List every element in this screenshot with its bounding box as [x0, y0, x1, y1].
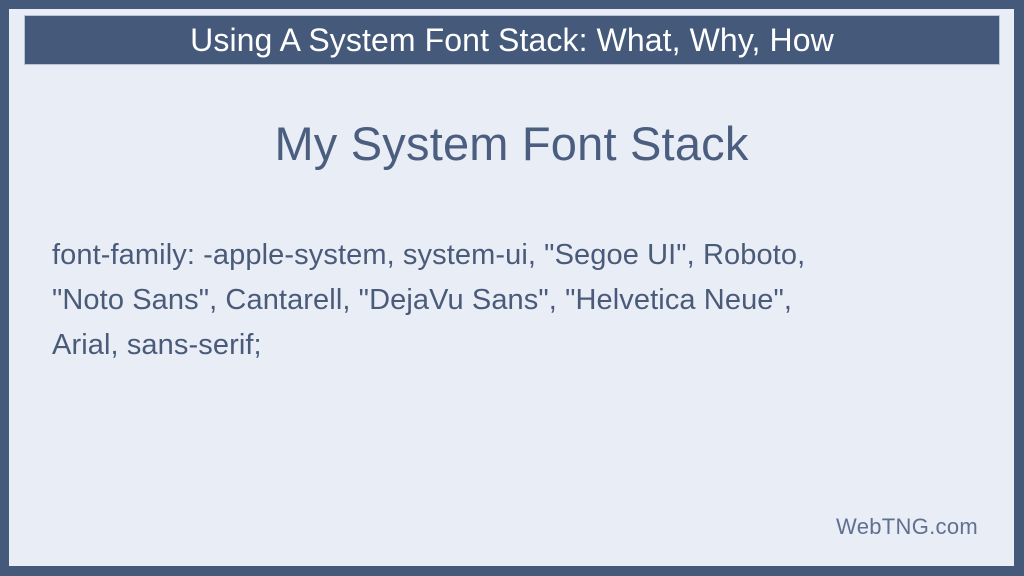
slide-title-text: Using A System Font Stack: What, Why, Ho…: [190, 24, 834, 56]
slide-frame: Using A System Font Stack: What, Why, Ho…: [0, 0, 1024, 576]
slide-canvas: Using A System Font Stack: What, Why, Ho…: [9, 9, 1014, 566]
font-stack-line: Arial, sans-serif;: [52, 323, 952, 368]
font-stack-line: font-family: -apple-system, system-ui, "…: [52, 233, 952, 278]
font-stack-line: "Noto Sans", Cantarell, "DejaVu Sans", "…: [52, 278, 952, 323]
slide-title-bar: Using A System Font Stack: What, Why, Ho…: [24, 15, 1000, 65]
slide-heading: My System Font Stack: [9, 117, 1014, 171]
footer-watermark: WebTNG.com: [836, 516, 978, 538]
font-stack-code-block: font-family: -apple-system, system-ui, "…: [52, 233, 952, 368]
